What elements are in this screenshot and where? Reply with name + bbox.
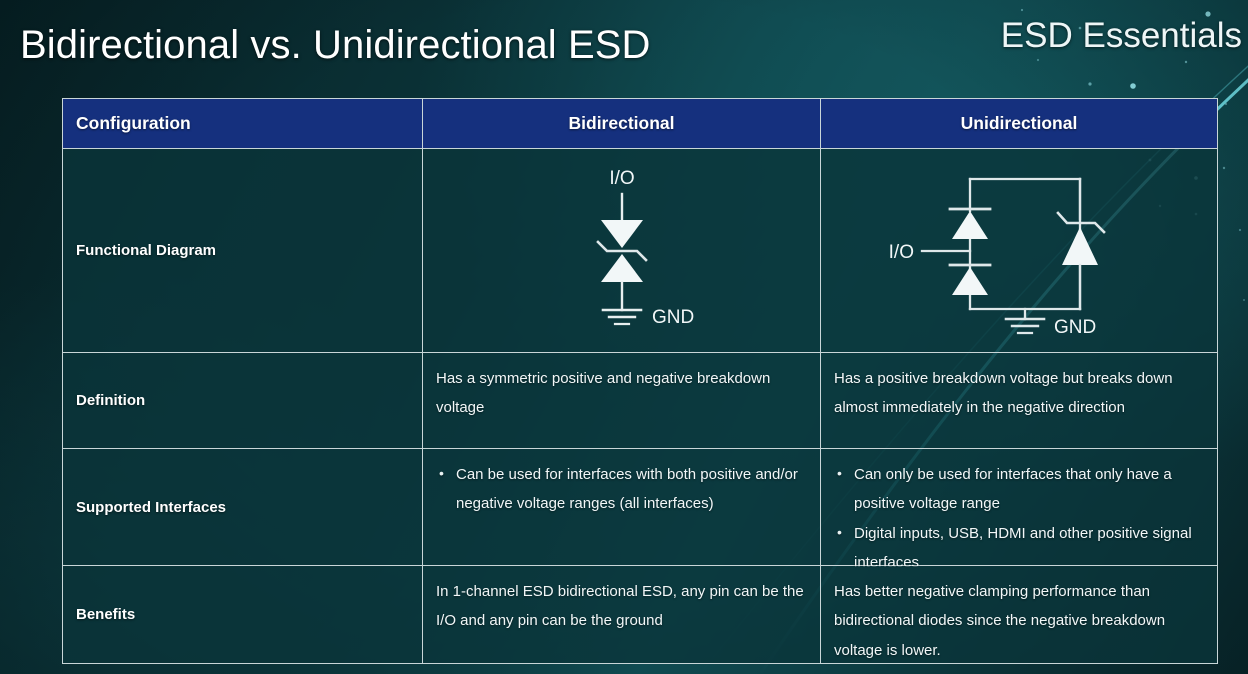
header-cell-bidirectional: Bidirectional: [423, 99, 821, 148]
benefits-bidirectional-cell: In 1-channel ESD bidirectional ESD, any …: [423, 566, 821, 663]
circuit-bidirectional: I/O GND: [423, 149, 821, 352]
header-label-bidirectional: Bidirectional: [569, 113, 675, 134]
list-item-text: Can be used for interfaces with both pos…: [456, 466, 798, 512]
interfaces-unidirectional-cell: • Can only be used for interfaces that o…: [821, 449, 1217, 565]
comparison-table: Configuration Bidirectional Unidirection…: [62, 98, 1218, 664]
list-item-text: Digital inputs, USB, HDMI and other posi…: [854, 525, 1192, 571]
bidirectional-gnd-label: GND: [652, 307, 694, 328]
list-item: • Can be used for interfaces with both p…: [431, 460, 810, 519]
unidirectional-io-label: I/O: [889, 242, 914, 263]
row-label-cell-functional-diagram: Functional Diagram: [63, 149, 423, 352]
list-item-text: Can only be used for interfaces that onl…: [854, 466, 1172, 512]
definition-bidirectional-text: Has a symmetric positive and negative br…: [423, 353, 820, 431]
interfaces-unidirectional-list: • Can only be used for interfaces that o…: [821, 449, 1217, 585]
bullet-icon: •: [439, 460, 444, 487]
row-label-cell-definition: Definition: [63, 353, 423, 448]
bullet-icon: •: [837, 519, 842, 546]
header-cell-configuration: Configuration: [63, 99, 423, 148]
table-row-supported-interfaces: Supported Interfaces • Can be used for i…: [63, 449, 1217, 566]
list-item: • Can only be used for interfaces that o…: [829, 460, 1207, 519]
title-bar: Bidirectional vs. Unidirectional ESD ESD…: [0, 0, 1248, 96]
bullet-icon: •: [837, 460, 842, 487]
definition-unidirectional-text: Has a positive breakdown voltage but bre…: [821, 353, 1217, 431]
circuit-unidirectional: I/O GND: [821, 149, 1217, 352]
row-label-supported-interfaces: Supported Interfaces: [63, 449, 422, 565]
row-label-cell-supported-interfaces: Supported Interfaces: [63, 449, 423, 565]
benefits-bidirectional-text: In 1-channel ESD bidirectional ESD, any …: [423, 566, 820, 644]
header-label-unidirectional: Unidirectional: [961, 113, 1078, 134]
benefits-unidirectional-text: Has better negative clamping performance…: [821, 566, 1217, 673]
definition-unidirectional-cell: Has a positive breakdown voltage but bre…: [821, 353, 1217, 448]
unidirectional-gnd-label: GND: [1054, 317, 1096, 338]
interfaces-bidirectional-list: • Can be used for interfaces with both p…: [423, 449, 820, 527]
table-row-benefits: Benefits In 1-channel ESD bidirectional …: [63, 566, 1217, 663]
header-label-configuration: Configuration: [63, 113, 191, 134]
table-row-definition: Definition Has a symmetric positive and …: [63, 353, 1217, 449]
page-title: Bidirectional vs. Unidirectional ESD: [20, 23, 651, 68]
row-label-benefits: Benefits: [63, 566, 422, 663]
row-label-definition: Definition: [63, 353, 422, 448]
header-cell-unidirectional: Unidirectional: [821, 99, 1217, 148]
interfaces-bidirectional-cell: • Can be used for interfaces with both p…: [423, 449, 821, 565]
bidirectional-circuit-svg: I/O GND: [497, 158, 747, 343]
bidirectional-io-label: I/O: [609, 168, 634, 189]
table-row-functional-diagram: Functional Diagram: [63, 149, 1217, 353]
row-label-cell-benefits: Benefits: [63, 566, 423, 663]
definition-bidirectional-cell: Has a symmetric positive and negative br…: [423, 353, 821, 448]
row-label-functional-diagram: Functional Diagram: [63, 149, 422, 352]
benefits-unidirectional-cell: Has better negative clamping performance…: [821, 566, 1217, 663]
deck-series-label: ESD Essentials: [1001, 16, 1242, 56]
table-header-row: Configuration Bidirectional Unidirection…: [63, 99, 1217, 149]
unidirectional-circuit-svg: I/O GND: [874, 161, 1164, 341]
